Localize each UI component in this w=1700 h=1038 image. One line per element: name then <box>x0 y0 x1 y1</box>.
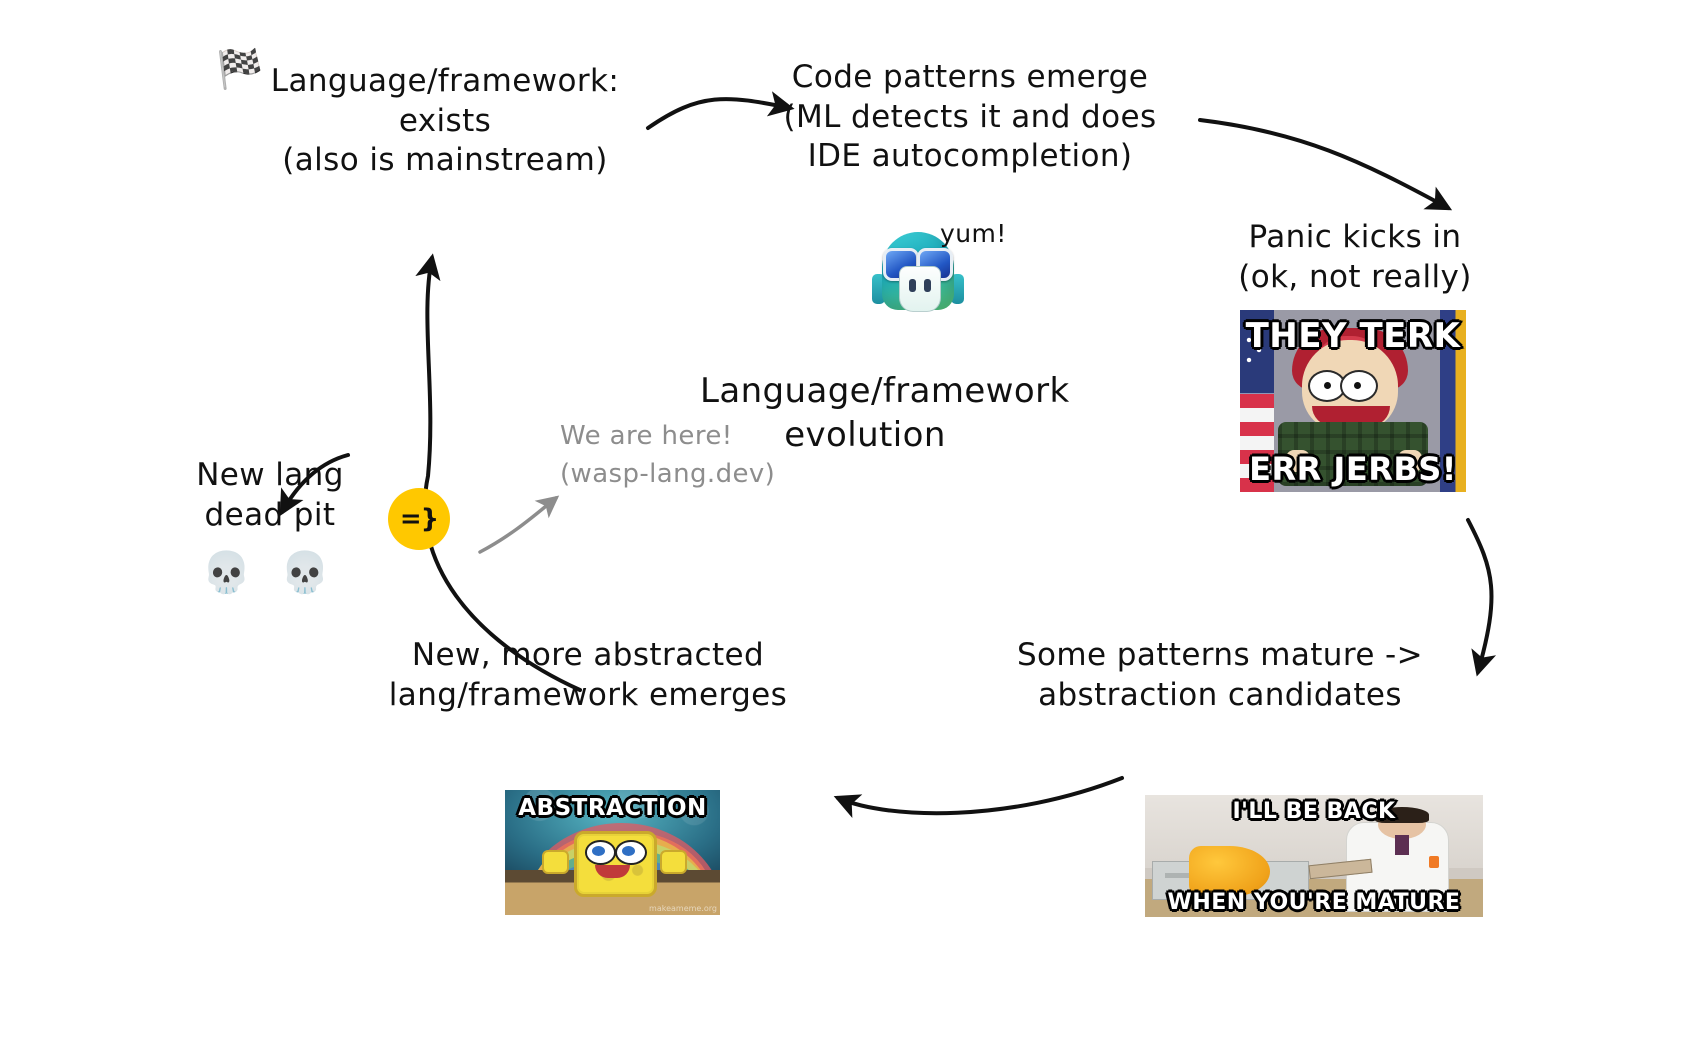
node-patterns-mature: Some patterns mature -> abstraction cand… <box>1000 636 1440 715</box>
meme-ill-be-back: I'LL BE BACK WHEN YOU'RE MATURE <box>1145 795 1483 917</box>
arrow-patterns-to-panic <box>1200 120 1448 208</box>
diagram-canvas: 🏁 Language/framework: exists (also is ma… <box>0 0 1700 1038</box>
arrow-panic-to-mature <box>1468 520 1491 672</box>
robot-yum-caption: yum! <box>940 218 1030 250</box>
meme-they-took-our-jobs: THEY TERK ERR JERBS! <box>1240 310 1466 492</box>
arrow-newlang-to-exists <box>425 258 580 690</box>
we-are-here-note-line1: We are here! <box>560 420 800 454</box>
we-are-here-note-line2: (wasp-lang.dev) <box>560 458 800 492</box>
meme-sponge-top-caption: ABSTRACTION <box>505 795 720 821</box>
meme-watermark: makeameme.org <box>649 904 717 913</box>
meme-spongebob-imagination: ABSTRACTION makeameme.org <box>505 790 720 915</box>
skull-icon: 💀 💀 <box>160 548 380 599</box>
node-panic-kicks-in: Panic kicks in (ok, not really) <box>1210 218 1500 297</box>
node-new-lang-dead-pit: New lang dead pit <box>160 456 380 535</box>
wasp-badge[interactable]: =} <box>388 488 450 550</box>
arrow-badge-to-note <box>480 498 556 552</box>
arrow-mature-to-newlang <box>838 778 1122 813</box>
node-new-abstracted-lang: New, more abstracted lang/framework emer… <box>378 636 798 715</box>
meme-jobs-bottom-caption: ERR JERBS! <box>1240 450 1466 488</box>
meme-doc-bottom-caption: WHEN YOU'RE MATURE <box>1145 890 1483 915</box>
node-code-patterns-emerge: Code patterns emerge (ML detects it and … <box>760 58 1180 177</box>
meme-doc-top-caption: I'LL BE BACK <box>1145 799 1483 824</box>
node-language-exists: Language/framework: exists (also is main… <box>240 62 650 181</box>
meme-jobs-top-caption: THEY TERK <box>1240 316 1466 356</box>
